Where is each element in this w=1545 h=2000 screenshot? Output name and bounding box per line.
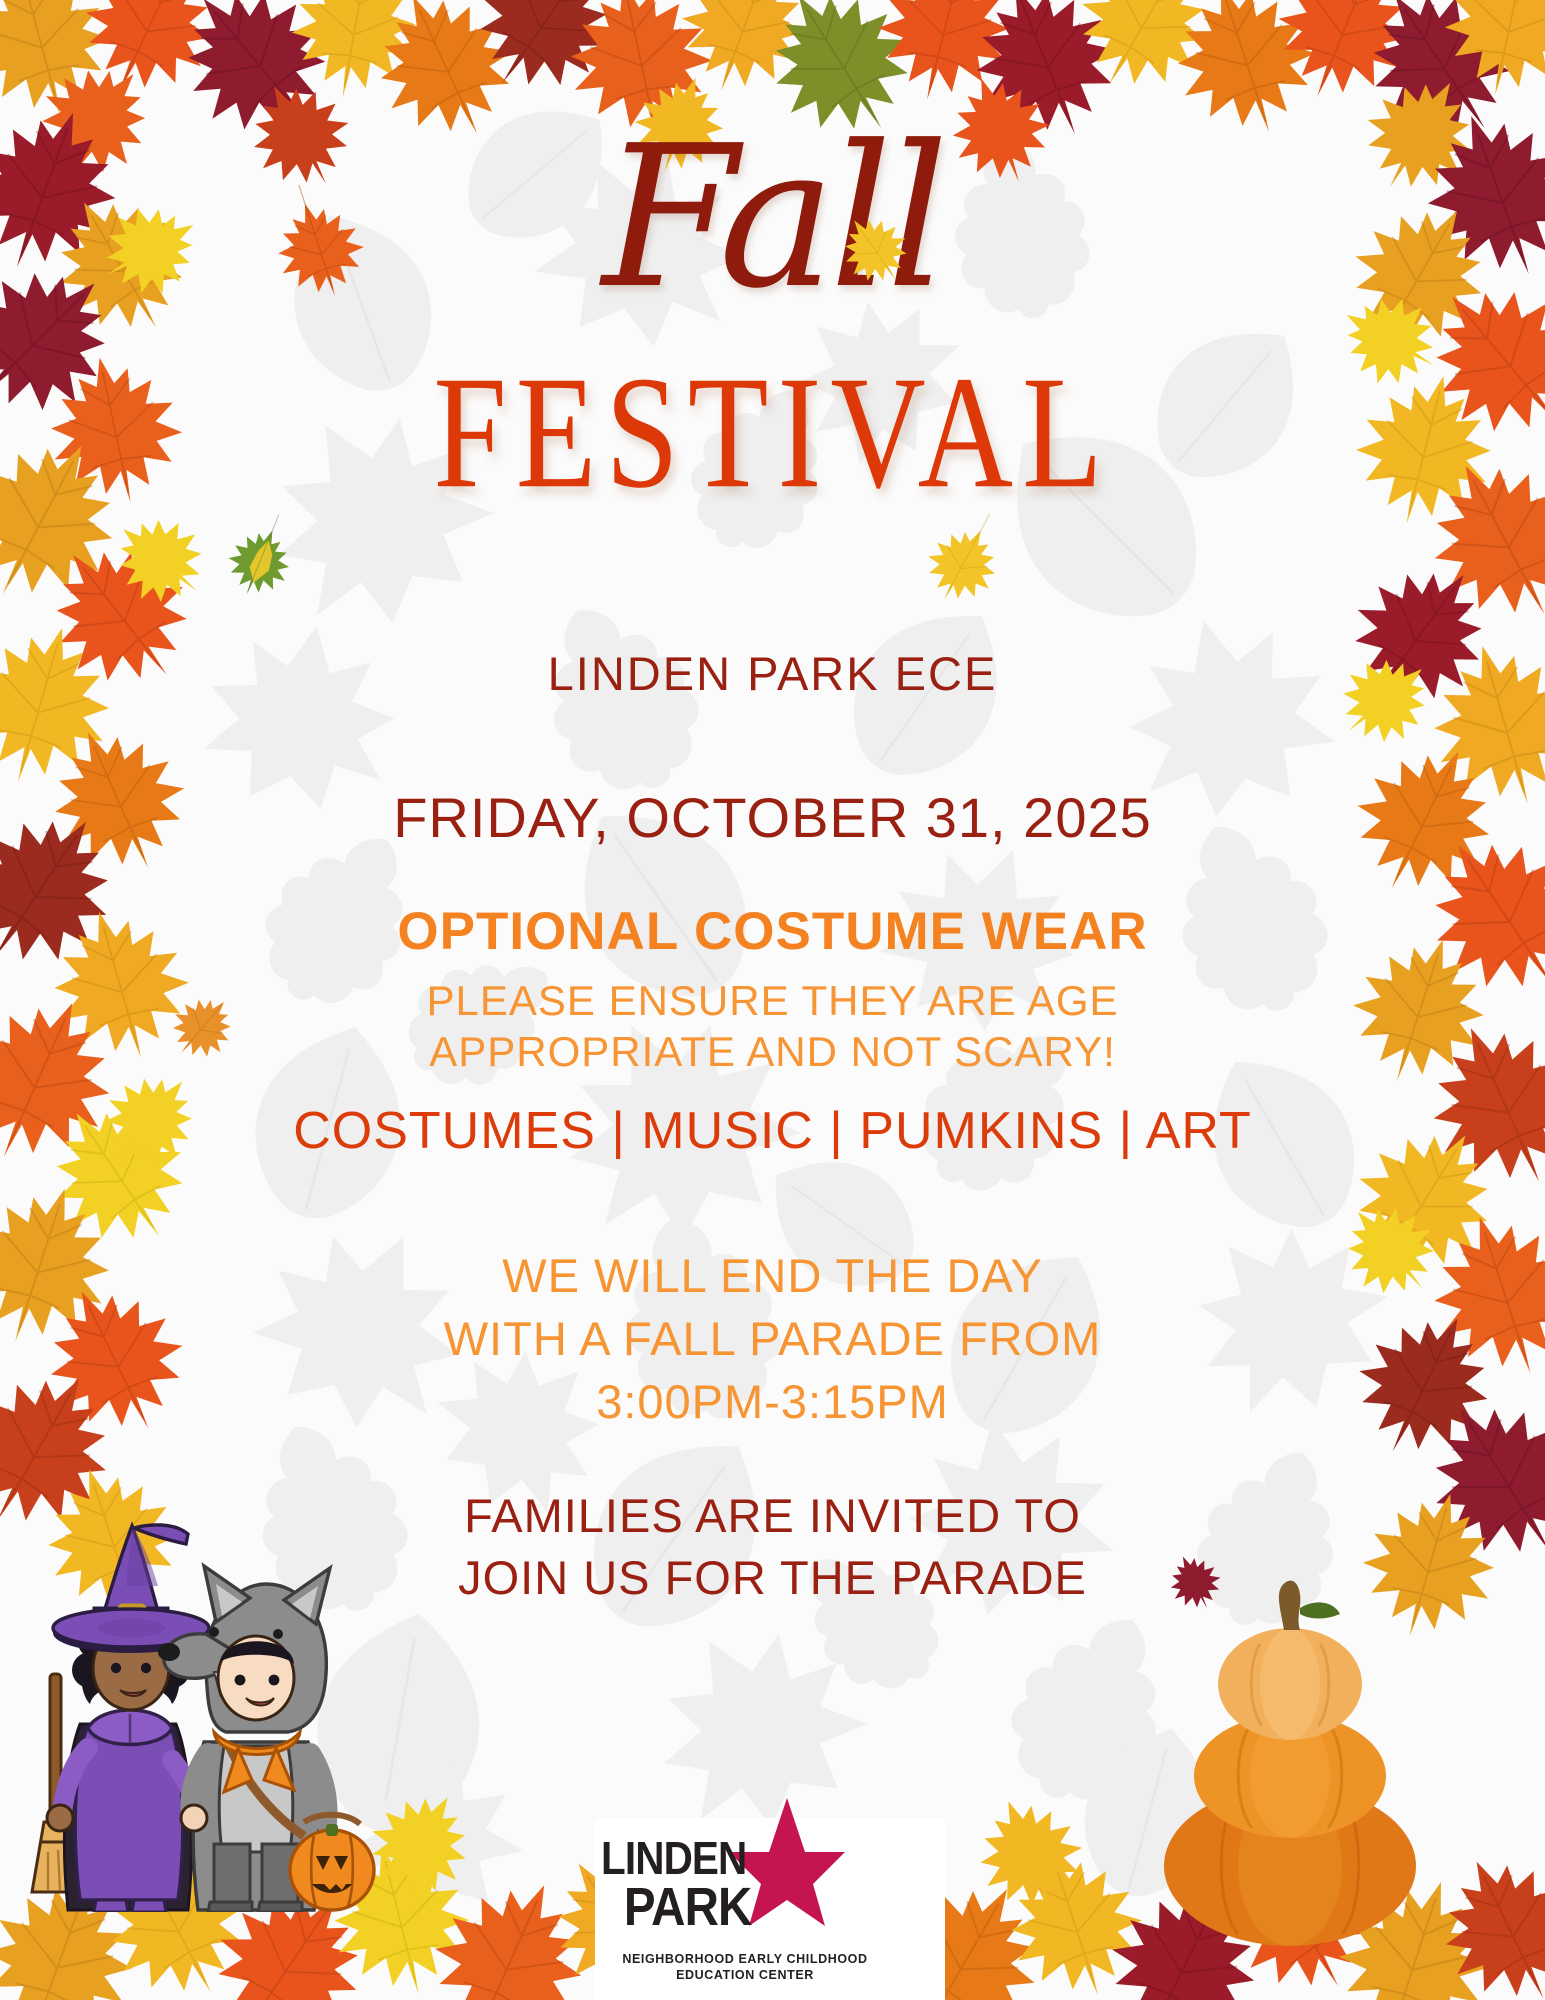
floating-orange-leaf-left: [155, 980, 250, 1075]
parade-line-2: WITH A FALL PARADE FROM: [0, 1308, 1545, 1371]
parade-info: WE WILL END THE DAY WITH A FALL PARADE F…: [0, 1245, 1545, 1434]
fall-festival-flyer: Fall FESTIVAL LINDEN PARK ECE FRIDAY, OC…: [0, 0, 1545, 2000]
activities-list: COSTUMES | MUSIC | PUMKINS | ART: [0, 1105, 1545, 1157]
logo-name-linden: LINDEN: [601, 1836, 789, 1880]
linden-park-logo: LINDEN PARK NEIGHBORHOOD EARLY CHILDHOOD…: [595, 1818, 945, 2000]
floating-yellow-leaf-right: [905, 510, 1020, 620]
logo-name-park: PARK: [601, 1880, 789, 1934]
witch-girl: [47, 1525, 211, 1912]
festival-title: FESTIVAL: [0, 352, 1545, 513]
costumed-kids-illustration: [28, 1492, 388, 1912]
parade-time: 3:00PM-3:15PM: [0, 1371, 1545, 1434]
parade-line-1: WE WILL END THE DAY: [0, 1245, 1545, 1308]
floating-maple-leaf-left-top: [255, 185, 385, 315]
fall-script-title: Fall: [0, 120, 1545, 316]
logo-tagline-line-1: NEIGHBORHOOD EARLY CHILDHOOD: [595, 1952, 895, 1968]
stacked-pumpkins-illustration: [1150, 1548, 1430, 1948]
floating-green-leaf: [212, 515, 307, 610]
floating-yellow-leaf-top-right: [820, 205, 930, 295]
costume-heading: OPTIONAL COSTUME WEAR: [0, 905, 1545, 958]
organization-name: LINDEN PARK ECE: [0, 650, 1545, 697]
logo-wordmark: LINDEN PARK: [595, 1836, 815, 1934]
logo-tagline: NEIGHBORHOOD EARLY CHILDHOOD EDUCATION C…: [595, 1952, 895, 1983]
event-date: FRIDAY, OCTOBER 31, 2025: [0, 790, 1545, 846]
logo-tagline-line-2: EDUCATION CENTER: [595, 1968, 895, 1984]
